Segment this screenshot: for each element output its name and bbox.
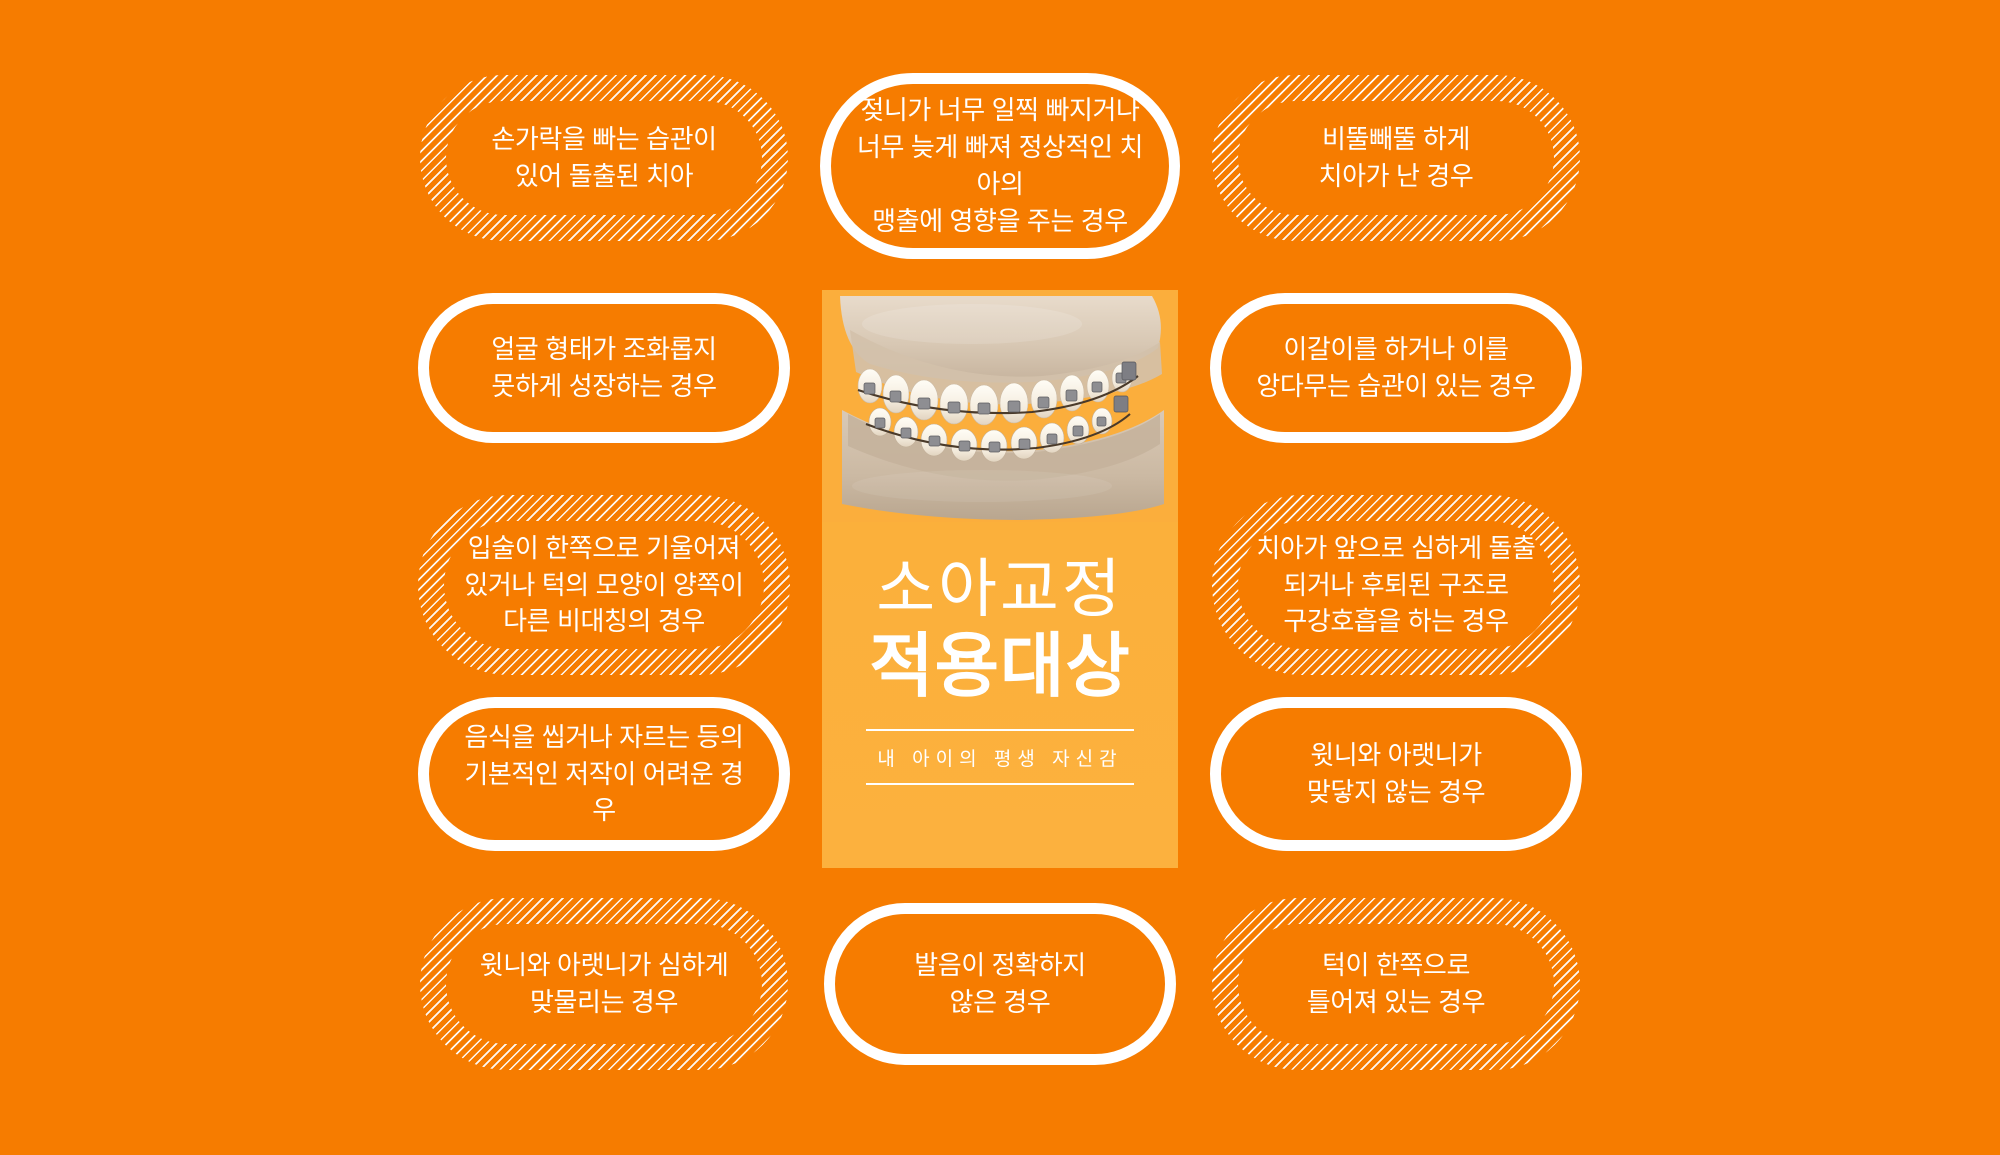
criteria-pill-center-2[interactable]: 발음이 정확하지 않은 경우 — [824, 903, 1176, 1065]
criteria-pill-left-3[interactable]: 입술이 한쪽으로 기울어져 있거나 턱의 모양이 양쪽이 다른 비대칭의 경우 — [418, 495, 790, 675]
center-hero-card: 소아교정 적용대상 내 아이의 평생 자신감 — [822, 290, 1178, 868]
criteria-pill-label: 손가락을 빠는 습관이 있어 돌출된 치아 — [467, 121, 740, 195]
dental-model-illustration — [822, 290, 1178, 522]
criteria-pill-left-2[interactable]: 얼굴 형태가 조화롭지 못하게 성장하는 경우 — [418, 293, 790, 443]
criteria-pill-left-4[interactable]: 음식을 씹거나 자르는 등의 기본적인 저작이 어려운 경우 — [418, 697, 790, 851]
criteria-pill-right-5[interactable]: 턱이 한쪽으로 틀어져 있는 경우 — [1212, 898, 1580, 1070]
criteria-pill-label: 입술이 한쪽으로 기울어져 있거나 턱의 모양이 양쪽이 다른 비대칭의 경우 — [440, 530, 767, 641]
card-title-light: 소아교정 — [852, 556, 1148, 623]
criteria-pill-label: 치아가 앞으로 심하게 돌출 되거나 후퇴된 구조로 구강호흡을 하는 경우 — [1232, 530, 1559, 641]
criteria-pill-left-1[interactable]: 손가락을 빠는 습관이 있어 돌출된 치아 — [420, 75, 788, 241]
criteria-pill-label: 얼굴 형태가 조화롭지 못하게 성장하는 경우 — [467, 331, 740, 405]
poster-root: 손가락을 빠는 습관이 있어 돌출된 치아 얼굴 형태가 조화롭지 못하게 성장… — [0, 0, 2000, 1155]
criteria-pill-center-1[interactable]: 젖니가 너무 일찍 빠지거나 너무 늦게 빠져 정상적인 치아의 맹출에 영향을… — [820, 73, 1180, 259]
criteria-pill-label: 발음이 정확하지 않은 경우 — [890, 947, 1109, 1021]
criteria-pill-label: 젖니가 너무 일찍 빠지거나 너무 늦게 빠져 정상적인 치아의 맹출에 영향을… — [831, 92, 1169, 240]
card-title-bold: 적용대상 — [852, 629, 1148, 703]
criteria-pill-right-3[interactable]: 치아가 앞으로 심하게 돌출 되거나 후퇴된 구조로 구강호흡을 하는 경우 — [1212, 495, 1580, 675]
criteria-pill-label: 이갈이를 하거나 이를 앙다무는 습관이 있는 경우 — [1232, 331, 1559, 405]
center-card-body: 소아교정 적용대상 내 아이의 평생 자신감 — [822, 522, 1178, 785]
criteria-pill-label: 음식을 씹거나 자르는 등의 기본적인 저작이 어려운 경우 — [429, 719, 779, 830]
criteria-pill-left-5[interactable]: 윗니와 아랫니가 심하게 맞물리는 경우 — [420, 898, 788, 1070]
criteria-pill-label: 턱이 한쪽으로 틀어져 있는 경우 — [1283, 947, 1509, 1021]
criteria-pill-label: 윗니와 아랫니가 심하게 맞물리는 경우 — [456, 947, 753, 1021]
criteria-pill-right-4[interactable]: 윗니와 아랫니가 맞닿지 않는 경우 — [1210, 697, 1582, 851]
criteria-pill-label: 윗니와 아랫니가 맞닿지 않는 경우 — [1283, 737, 1509, 811]
criteria-pill-right-2[interactable]: 이갈이를 하거나 이를 앙다무는 습관이 있는 경우 — [1210, 293, 1582, 443]
divider-bottom — [866, 783, 1134, 785]
criteria-pill-right-1[interactable]: 비뚤빼뚤 하게 치아가 난 경우 — [1212, 75, 1580, 241]
dental-model-photo — [822, 290, 1178, 522]
card-tagline: 내 아이의 평생 자신감 — [852, 731, 1148, 783]
criteria-pill-label: 비뚤빼뚤 하게 치아가 난 경우 — [1295, 121, 1498, 195]
